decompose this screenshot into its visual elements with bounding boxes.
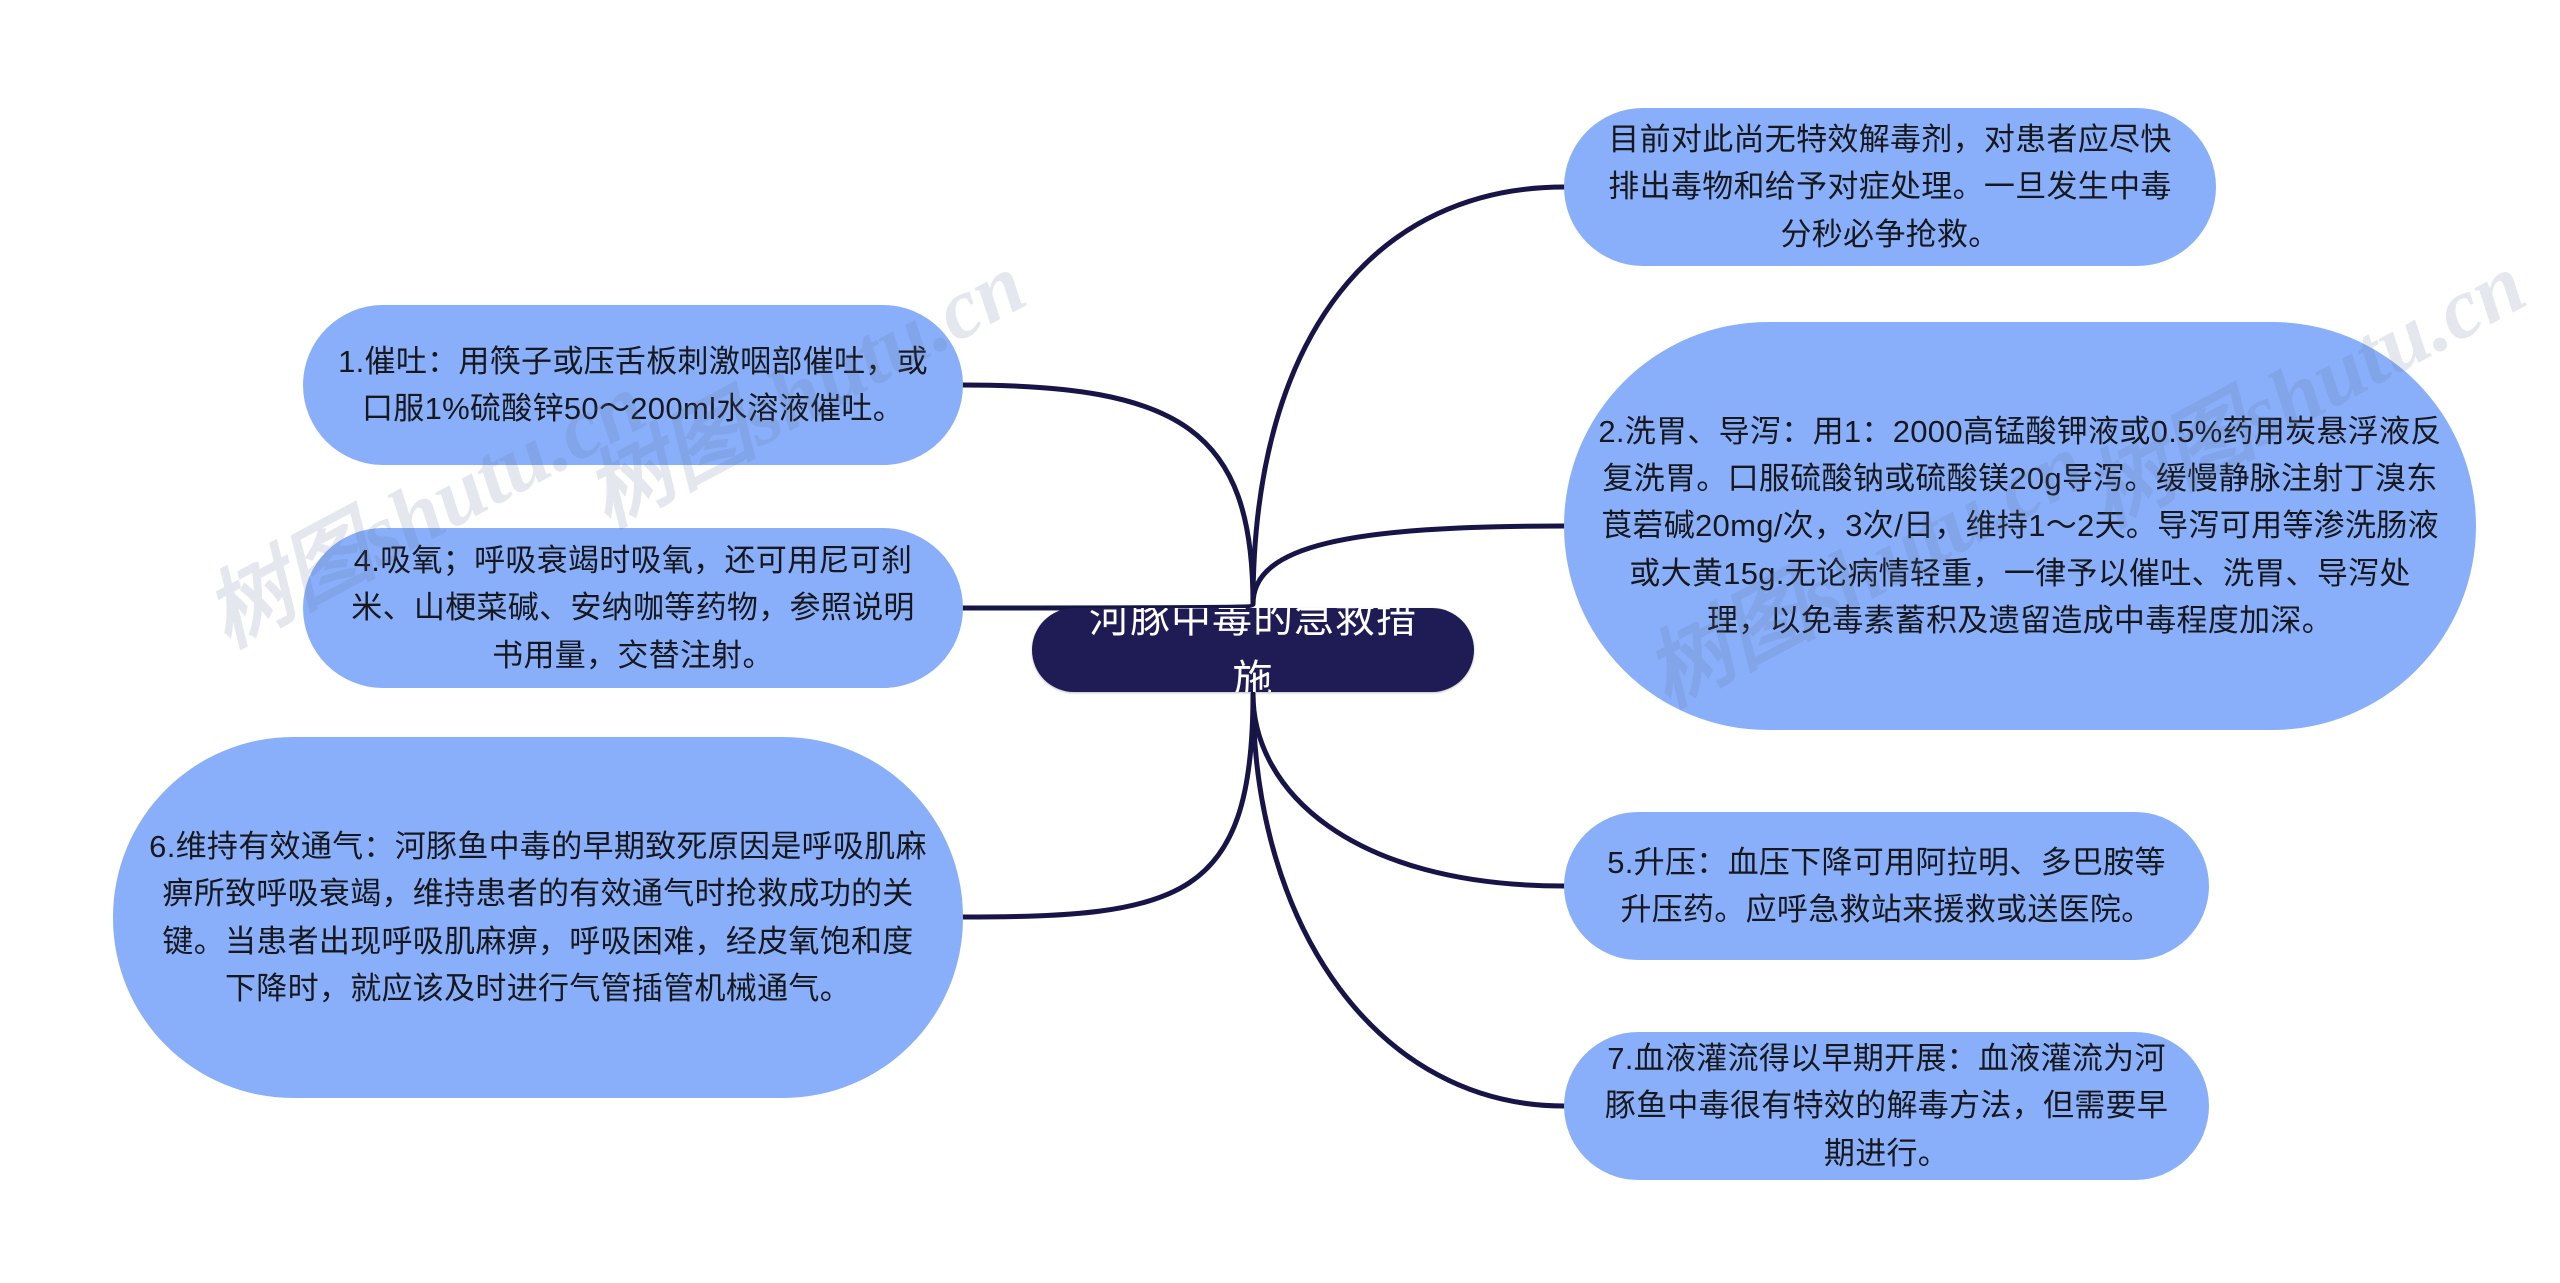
- branch-node-step-6[interactable]: 6.维持有效通气：河豚鱼中毒的早期致死原因是呼吸肌麻痹所致呼吸衰竭，维持患者的有…: [113, 737, 963, 1098]
- branch-node-step-4[interactable]: 4.吸氧；呼吸衰竭时吸氧，还可用尼可刹米、山梗菜碱、安纳咖等药物，参照说明书用量…: [303, 528, 963, 688]
- branch-node-step-7[interactable]: 7.血液灌流得以早期开展：血液灌流为河豚鱼中毒很有特效的解毒方法，但需要早期进行…: [1564, 1032, 2209, 1180]
- branch-label-intro: 目前对此尚无特效解毒剂，对患者应尽快排出毒物和给予对症处理。一旦发生中毒分秒必争…: [1598, 116, 2182, 257]
- branch-node-step-1[interactable]: 1.催吐：用筷子或压舌板刺激咽部催吐，或口服1%硫酸锌50～200ml水溶液催吐…: [303, 305, 963, 465]
- root-node-label: 河豚中毒的急救措施: [1076, 608, 1430, 692]
- branch-node-intro[interactable]: 目前对此尚无特效解毒剂，对患者应尽快排出毒物和给予对症处理。一旦发生中毒分秒必争…: [1564, 108, 2216, 266]
- connector-to-step-7: [1253, 694, 1564, 1106]
- branch-node-step-2[interactable]: 2.洗胃、导泻：用1：2000高锰酸钾液或0.5%药用炭悬浮液反复洗胃。口服硫酸…: [1564, 322, 2476, 730]
- branch-label-step-5: 5.升压：血压下降可用阿拉明、多巴胺等升压药。应呼急救站来援救或送医院。: [1598, 839, 2175, 933]
- connector-to-step-2: [1253, 526, 1564, 604]
- connector-to-step-5: [1253, 694, 1564, 886]
- branch-label-step-1: 1.催吐：用筷子或压舌板刺激咽部催吐，或口服1%硫酸锌50～200ml水溶液催吐…: [337, 338, 929, 432]
- connector-to-step-6: [963, 694, 1253, 917]
- connector-to-intro: [1253, 187, 1564, 604]
- root-node[interactable]: 河豚中毒的急救措施: [1032, 608, 1474, 692]
- branch-label-step-7: 7.血液灌流得以早期开展：血液灌流为河豚鱼中毒很有特效的解毒方法，但需要早期进行…: [1598, 1035, 2175, 1176]
- branch-label-step-4: 4.吸氧；呼吸衰竭时吸氧，还可用尼可刹米、山梗菜碱、安纳咖等药物，参照说明书用量…: [337, 537, 929, 678]
- branch-label-step-6: 6.维持有效通气：河豚鱼中毒的早期致死原因是呼吸肌麻痹所致呼吸衰竭，维持患者的有…: [147, 823, 929, 1011]
- mindmap-canvas: 目前对此尚无特效解毒剂，对患者应尽快排出毒物和给予对症处理。一旦发生中毒分秒必争…: [0, 0, 2560, 1283]
- branch-label-step-2: 2.洗胃、导泻：用1：2000高锰酸钾液或0.5%药用炭悬浮液反复洗胃。口服硫酸…: [1598, 408, 2442, 644]
- branch-node-step-5[interactable]: 5.升压：血压下降可用阿拉明、多巴胺等升压药。应呼急救站来援救或送医院。: [1564, 812, 2209, 960]
- connector-to-step-1: [963, 385, 1253, 604]
